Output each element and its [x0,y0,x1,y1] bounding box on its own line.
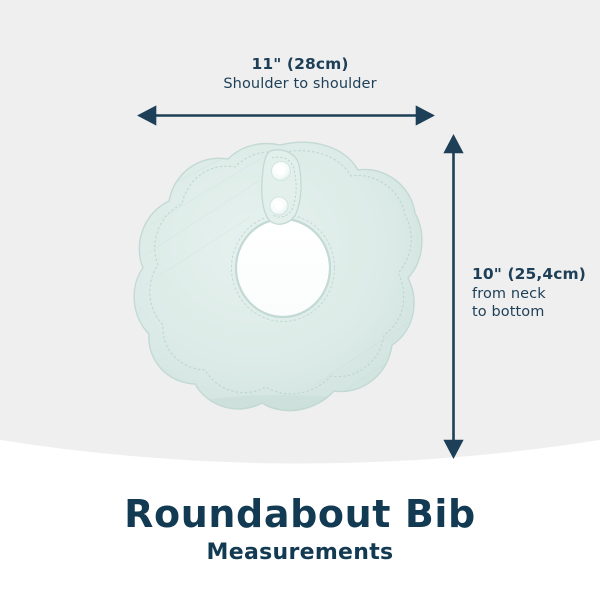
title-block: Roundabout Bib Measurements [0,495,600,565]
bib-product-image [130,135,430,430]
measurement-diagram: 11" (28cm) Shoulder to shoulder 10" (25,… [0,0,600,600]
width-value: 11" (28cm) [0,55,600,75]
width-description: Shoulder to shoulder [0,75,600,94]
height-value: 10" (25,4cm) [472,265,586,285]
height-description-line1: from neck [472,285,586,304]
height-measurement-label: 10" (25,4cm) from neck to bottom [472,265,586,322]
page-title: Roundabout Bib [0,495,600,535]
height-description-line2: to bottom [472,303,586,322]
page-subtitle: Measurements [0,541,600,565]
width-measurement-label: 11" (28cm) Shoulder to shoulder [0,55,600,93]
